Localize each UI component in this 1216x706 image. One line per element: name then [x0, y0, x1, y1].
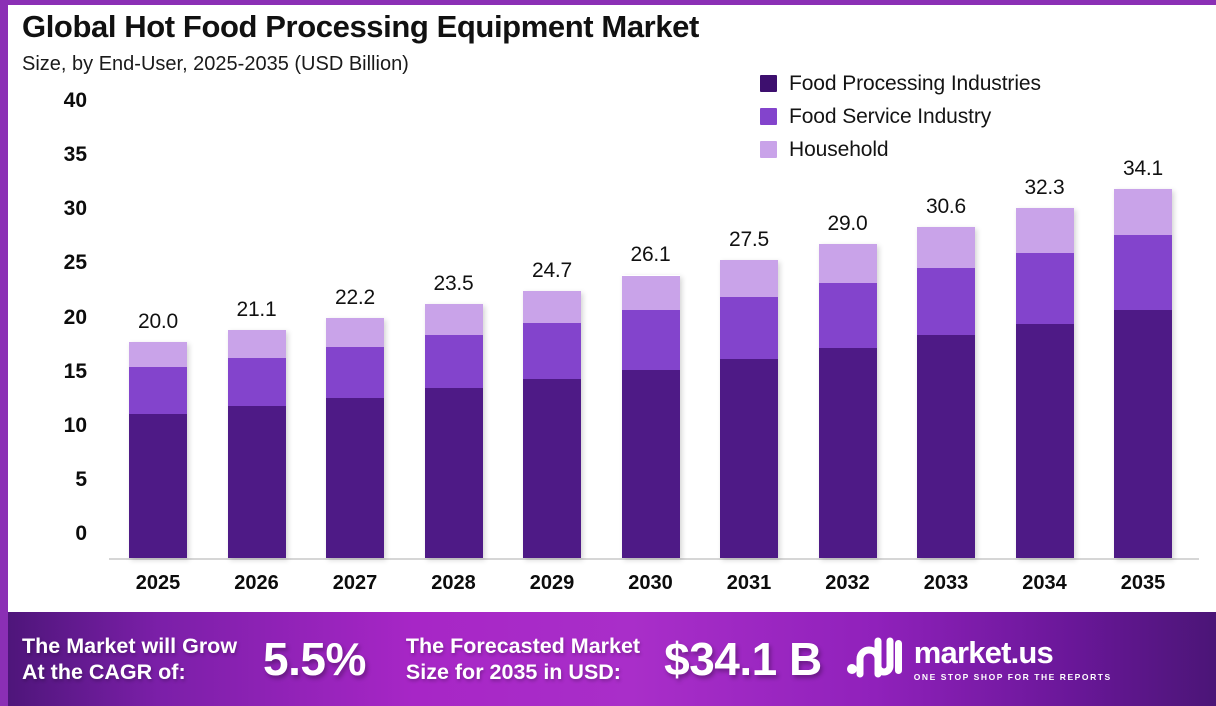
bar-group[interactable]: 20.02025	[129, 342, 187, 559]
stacked-bar[interactable]	[129, 342, 187, 559]
bar-segment[interactable]	[326, 347, 384, 398]
cagr-caption: The Market will Grow At the CAGR of:	[22, 633, 237, 685]
bar-group[interactable]: 26.12030	[622, 275, 680, 558]
x-axis-tick-label: 2029	[530, 572, 575, 595]
y-axis-tick-label: 20	[64, 306, 87, 330]
brand-name: market.us	[914, 637, 1112, 668]
stacked-bar[interactable]	[917, 227, 975, 558]
x-axis-tick-label: 2031	[727, 572, 772, 595]
brand-tagline: ONE STOP SHOP FOR THE REPORTS	[914, 672, 1112, 682]
stacked-bar[interactable]	[228, 330, 286, 558]
bar-value-label: 24.7	[532, 259, 572, 283]
bar-segment[interactable]	[917, 335, 975, 558]
bar-segment[interactable]	[1016, 208, 1074, 252]
legend-swatch-icon	[760, 108, 777, 125]
x-axis-tick-label: 2027	[333, 572, 378, 595]
bar-segment[interactable]	[129, 367, 187, 414]
bar-segment[interactable]	[819, 348, 877, 558]
bar-segment[interactable]	[819, 283, 877, 348]
y-axis-tick-label: 10	[64, 414, 87, 438]
bar-group[interactable]: 34.12035	[1114, 189, 1172, 558]
x-axis-tick-label: 2028	[431, 572, 476, 595]
bar-segment[interactable]	[1114, 189, 1172, 236]
bar-segment[interactable]	[917, 227, 975, 268]
bar-segment[interactable]	[129, 342, 187, 368]
bar-value-label: 32.3	[1024, 176, 1064, 200]
bar-value-label: 26.1	[630, 243, 670, 267]
bar-segment[interactable]	[917, 268, 975, 335]
bar-group[interactable]: 22.22027	[326, 318, 384, 558]
brand-text: market.us ONE STOP SHOP FOR THE REPORTS	[914, 637, 1112, 682]
bar-group[interactable]: 24.72029	[523, 291, 581, 558]
chart-infographic: Global Hot Food Processing Equipment Mar…	[0, 0, 1216, 706]
y-axis-tick-label: 5	[75, 468, 87, 492]
bar-segment[interactable]	[523, 291, 581, 323]
y-axis-tick-label: 15	[64, 360, 87, 384]
bar-segment[interactable]	[1114, 310, 1172, 558]
cagr-value: 5.5%	[263, 632, 366, 686]
bar-segment[interactable]	[622, 276, 680, 311]
bar-value-label: 27.5	[729, 228, 769, 252]
y-axis-tick-label: 35	[64, 143, 87, 167]
page-title: Global Hot Food Processing Equipment Mar…	[22, 10, 1202, 44]
x-axis-tick-label: 2026	[234, 572, 279, 595]
bar-segment[interactable]	[228, 330, 286, 358]
bar-segment[interactable]	[228, 406, 286, 558]
stacked-bar[interactable]	[622, 275, 680, 558]
x-axis-tick-label: 2030	[628, 572, 673, 595]
bar-segment[interactable]	[622, 310, 680, 370]
bar-group[interactable]: 23.52028	[425, 304, 483, 558]
bar-segment[interactable]	[622, 370, 680, 558]
y-axis-tick-label: 0	[75, 522, 87, 546]
bar-segment[interactable]	[425, 388, 483, 558]
bar-segment[interactable]	[720, 359, 778, 558]
bar-segment[interactable]	[228, 358, 286, 407]
bar-segment[interactable]	[720, 260, 778, 297]
x-axis-line	[109, 558, 1199, 560]
stacked-bar[interactable]	[326, 318, 384, 558]
stacked-bar[interactable]	[523, 291, 581, 558]
legend-swatch-icon	[760, 75, 777, 92]
bar-segment[interactable]	[326, 318, 384, 347]
stacked-bar[interactable]	[425, 304, 483, 558]
bar-group[interactable]: 21.12026	[228, 330, 286, 558]
y-axis-tick-label: 40	[64, 89, 87, 113]
cagr-caption-line-1: The Market will Grow	[22, 633, 237, 659]
bar-value-label: 23.5	[433, 272, 473, 296]
bar-value-label: 30.6	[926, 195, 966, 219]
x-axis-tick-label: 2025	[136, 572, 181, 595]
x-axis-tick-label: 2032	[825, 572, 870, 595]
bar-value-label: 22.2	[335, 286, 375, 310]
bar-group[interactable]: 27.52031	[720, 260, 778, 558]
bar-segment[interactable]	[523, 379, 581, 558]
forecast-caption-line-1: The Forecasted Market	[406, 633, 640, 659]
bar-segment[interactable]	[720, 297, 778, 359]
bar-group[interactable]: 29.02032	[819, 244, 877, 558]
bar-value-label: 34.1	[1123, 157, 1163, 181]
bar-segment[interactable]	[326, 398, 384, 558]
x-axis-tick-label: 2033	[924, 572, 969, 595]
stacked-bar[interactable]	[720, 260, 778, 558]
y-axis-tick-label: 30	[64, 197, 87, 221]
forecast-caption-line-2: Size for 2035 in USD:	[406, 659, 640, 685]
bar-segment[interactable]	[425, 335, 483, 388]
stacked-bar[interactable]	[1016, 208, 1074, 558]
stacked-bar[interactable]	[819, 244, 877, 558]
bar-segment[interactable]	[425, 304, 483, 335]
bar-segment[interactable]	[1114, 235, 1172, 310]
bar-segment[interactable]	[819, 244, 877, 283]
bar-segment[interactable]	[129, 414, 187, 558]
bar-segment[interactable]	[1016, 253, 1074, 324]
bar-value-label: 20.0	[138, 310, 178, 334]
market-us-logo-icon	[846, 636, 904, 683]
cagr-caption-line-2: At the CAGR of:	[22, 659, 237, 685]
bar-value-label: 29.0	[827, 212, 867, 236]
stacked-bar[interactable]	[1114, 189, 1172, 558]
legend-item-label: Food Processing Industries	[789, 72, 1041, 96]
bar-group[interactable]: 30.62033	[917, 227, 975, 558]
forecast-value: $34.1 B	[664, 632, 822, 686]
brand-logo: market.us ONE STOP SHOP FOR THE REPORTS	[846, 636, 1112, 683]
bar-segment[interactable]	[1016, 324, 1074, 558]
bar-group[interactable]: 32.32034	[1016, 208, 1074, 558]
forecast-caption: The Forecasted Market Size for 2035 in U…	[406, 633, 640, 685]
x-axis-tick-label: 2034	[1022, 572, 1067, 595]
bar-segment[interactable]	[523, 323, 581, 379]
x-axis-tick-label: 2035	[1121, 572, 1166, 595]
bar-value-label: 21.1	[236, 298, 276, 322]
summary-banner: The Market will Grow At the CAGR of: 5.5…	[0, 612, 1216, 706]
legend-item[interactable]: Food Processing Industries	[760, 67, 1190, 100]
plot-area: 0510152025303540 20.0202521.1202622.2202…	[103, 125, 1208, 560]
y-axis-tick-label: 25	[64, 251, 87, 275]
